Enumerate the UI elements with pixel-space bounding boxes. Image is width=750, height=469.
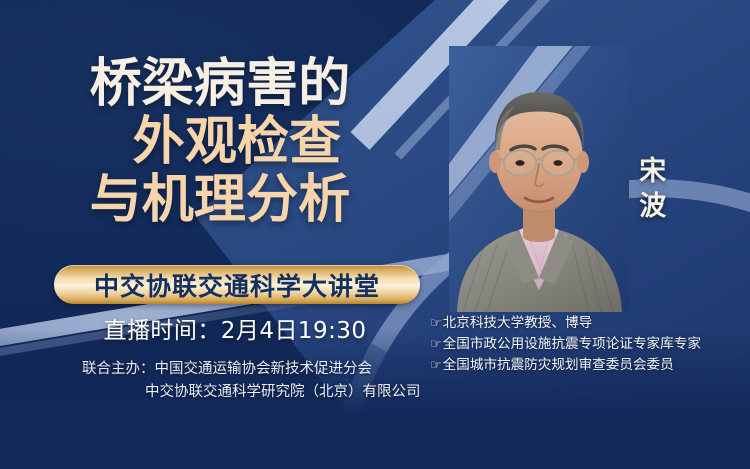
speaker-name-char-1: 宋 [630,155,676,190]
credential-item: ☞ 全国城市抗震防灾规划审查委员会委员 [430,355,750,376]
organizer-line-1: 联合主办：中国交通运输协会新技术促进分会 [82,358,462,381]
pointing-hand-icon: ☞ [430,314,442,334]
speaker-portrait [449,46,629,312]
series-badge: 中交协联交通科学大讲堂 [54,265,420,304]
organizers-block: 联合主办：中国交通运输协会新技术促进分会 中交协联交通科学研究院（北京）有限公司 [82,358,462,405]
series-badge-label: 中交协联交通科学大讲堂 [94,267,380,303]
live-time-label: 直播时间：2月4日19:30 [0,311,470,345]
headline-line-1: 桥梁病害的 [0,58,440,110]
pointing-hand-icon: ☞ [430,335,442,355]
speaker-credentials: ☞ 北京科技大学教授、博导 ☞ 全国市政公用设施抗震专项论证专家库专家 ☞ 全国… [430,313,750,376]
headline-line-2: 外观检查 [0,116,440,168]
pointing-hand-icon: ☞ [430,356,442,376]
credential-text: 全国市政公用设施抗震专项论证专家库专家 [443,334,701,355]
credential-text: 全国城市抗震防灾规划审查委员会委员 [443,355,674,376]
organizer-line-2: 中交协联交通科学研究院（北京）有限公司 [82,381,462,404]
headline-line-3: 与机理分析 [0,174,440,226]
credential-item: ☞ 北京科技大学教授、博导 [430,313,750,334]
speaker-portrait-illustration [449,46,629,312]
speaker-name: 宋 波 [630,155,676,224]
poster-headline: 桥梁病害的 外观检查 与机理分析 [0,58,440,232]
speaker-name-char-2: 波 [630,190,676,225]
credential-item: ☞ 全国市政公用设施抗震专项论证专家库专家 [430,334,750,355]
credential-text: 北京科技大学教授、博导 [443,313,593,334]
webinar-poster: 桥梁病害的 外观检查 与机理分析 中交协联交通科学大讲堂 直播时间：2月4日19… [0,0,750,469]
